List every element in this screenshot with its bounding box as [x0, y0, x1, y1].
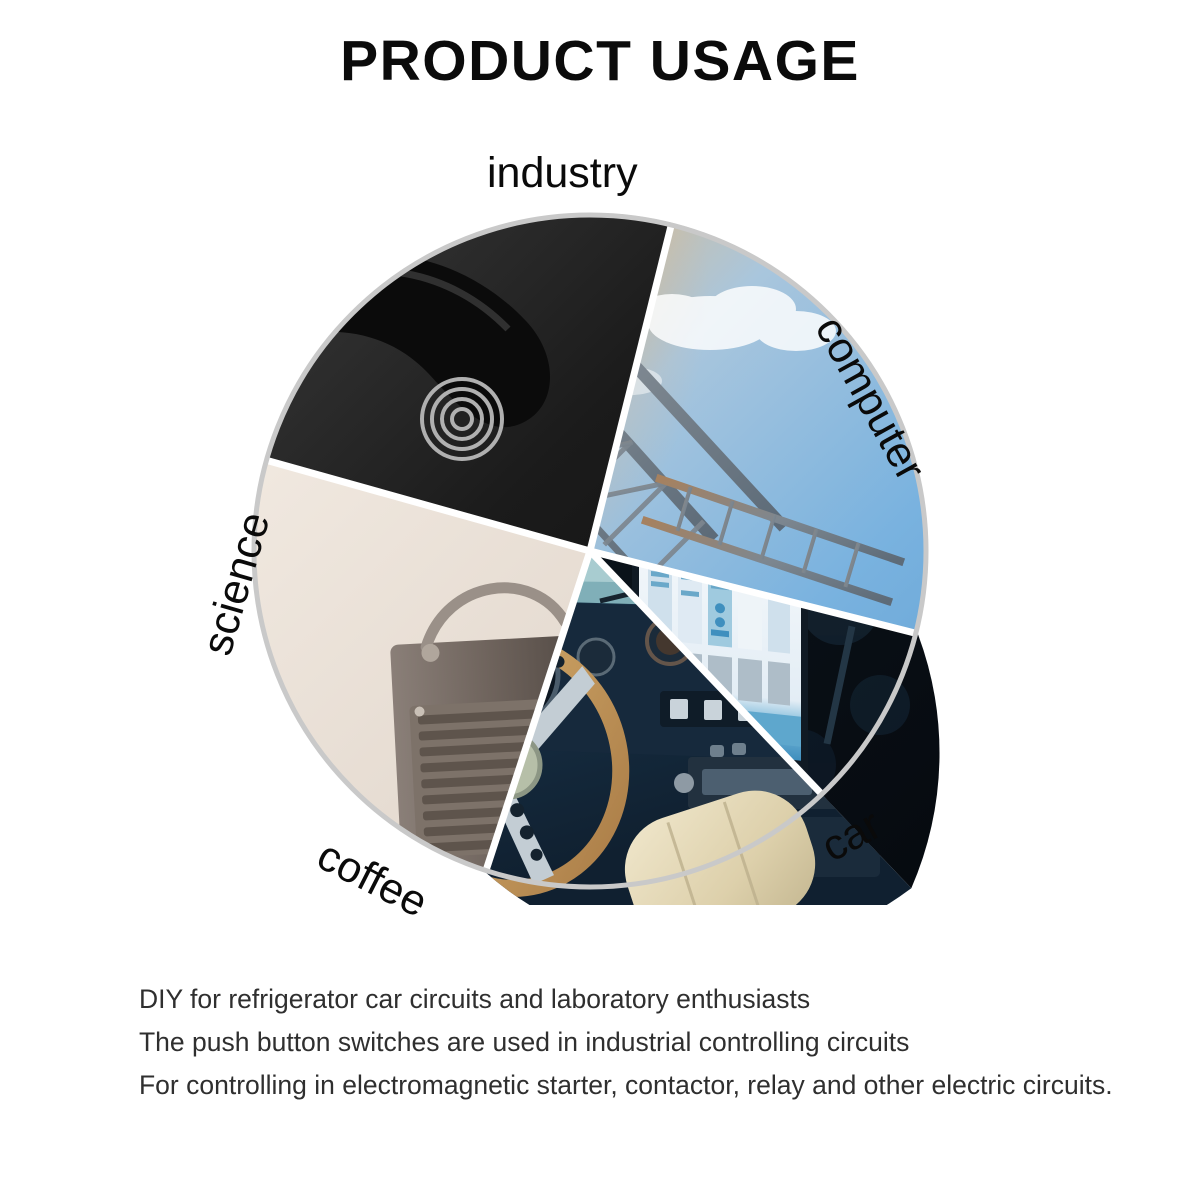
product-usage-infographic: PRODUCT USAGE	[0, 0, 1200, 1200]
pie-svg	[240, 205, 940, 905]
description-line-2: The push button switches are used in ind…	[139, 1021, 1179, 1064]
description-block: DIY for refrigerator car circuits and la…	[139, 978, 1179, 1107]
page-title: PRODUCT USAGE	[0, 28, 1200, 94]
slice-label-industry: industry	[487, 152, 638, 195]
description-line-1: DIY for refrigerator car circuits and la…	[139, 978, 1179, 1021]
description-line-3: For controlling in electromagnetic start…	[139, 1064, 1179, 1107]
usage-pie-chart	[240, 205, 940, 905]
